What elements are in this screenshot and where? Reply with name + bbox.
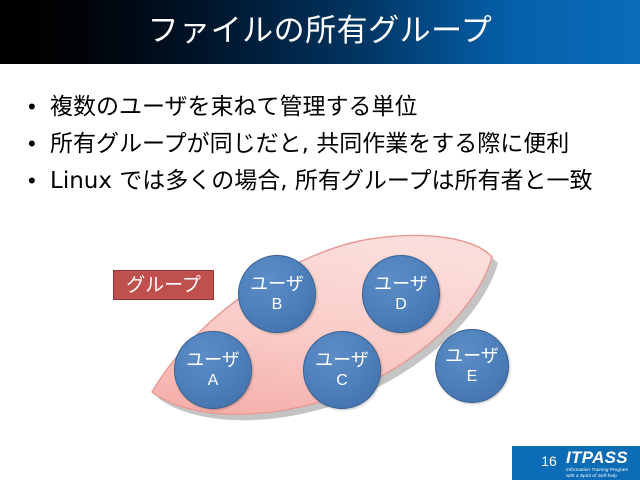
group-label-box: グループ (113, 270, 214, 300)
page-title: ファイルの所有グループ (0, 9, 640, 53)
bullet-text: 所有グループが同じだと, 共同作業をする際に便利 (50, 129, 569, 160)
logo-tagline-line1: Information Training Program (566, 467, 638, 473)
user-node-label: ユーザ (186, 350, 240, 371)
bullet-dot-icon: • (28, 129, 50, 159)
user-node-e[interactable]: ユーザ E (435, 329, 509, 403)
bullet-item: • Linux では多くの場合, 所有グループは所有者と一致 (28, 166, 628, 197)
user-node-label: ユーザ (250, 274, 304, 295)
user-node-id: D (395, 295, 407, 314)
bullet-dot-icon: • (28, 166, 50, 196)
user-node-id: A (208, 371, 219, 390)
user-node-c[interactable]: ユーザ C (303, 331, 381, 409)
logo-name: ITPASS (566, 449, 638, 467)
user-node-a[interactable]: ユーザ A (174, 331, 252, 409)
bullet-text: 複数のユーザを束ねて管理する単位 (50, 92, 418, 123)
bullet-item: • 所有グループが同じだと, 共同作業をする際に便利 (28, 129, 628, 160)
group-membership-diagram: ユーザ B ユーザ D ユーザ A ユーザ C ユーザ E (0, 215, 640, 425)
user-node-d[interactable]: ユーザ D (362, 255, 440, 333)
bullet-item: • 複数のユーザを束ねて管理する単位 (28, 92, 628, 123)
user-node-b[interactable]: ユーザ B (238, 255, 316, 333)
user-node-id: B (272, 295, 283, 314)
user-node-label: ユーザ (445, 346, 499, 367)
bullet-list: • 複数のユーザを束ねて管理する単位 • 所有グループが同じだと, 共同作業をす… (28, 92, 628, 203)
bullet-dot-icon: • (28, 92, 50, 122)
title-bar: ファイルの所有グループ (0, 0, 640, 64)
bullet-text: Linux では多くの場合, 所有グループは所有者と一致 (50, 166, 593, 197)
user-node-label: ユーザ (315, 350, 369, 371)
user-node-id: C (336, 371, 348, 390)
slide-canvas: ファイルの所有グループ • 複数のユーザを束ねて管理する単位 • 所有グループが… (0, 0, 640, 480)
logo-tagline-line2: with a Spirit of Self-help (566, 473, 638, 479)
user-node-id: E (467, 367, 478, 386)
user-node-label: ユーザ (374, 274, 428, 295)
itpass-logo: ITPASS Information Training Program with… (566, 449, 638, 478)
page-number: 16 (536, 452, 562, 470)
